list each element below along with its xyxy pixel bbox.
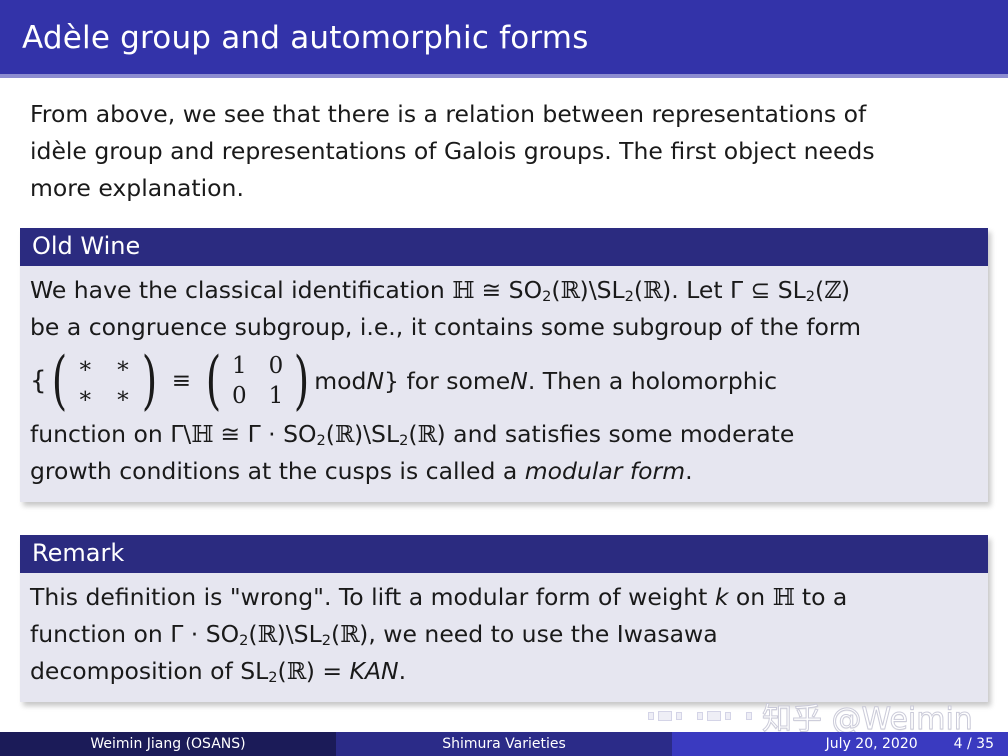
rm-l2-a: function on Γ · SO bbox=[30, 620, 239, 648]
rm-l1-c: to a bbox=[794, 583, 847, 611]
rm-l2-R2: ℝ bbox=[340, 620, 359, 648]
remark-line-1: This definition is "wrong". To lift a mo… bbox=[30, 579, 978, 616]
ow-l4-H: ℍ bbox=[191, 420, 213, 448]
nav-slide-dot-icon[interactable] bbox=[648, 712, 654, 720]
ow-matrix-tail-N: N bbox=[366, 363, 384, 400]
nav-spacer bbox=[735, 716, 742, 717]
ow-l4-c: ( bbox=[326, 420, 335, 448]
ow-matrix-tail-N2: N bbox=[510, 363, 528, 400]
nav-spacer bbox=[686, 716, 693, 717]
block-remark-title: Remark bbox=[20, 535, 988, 573]
ow-l5-a: growth conditions at the cusps is called… bbox=[30, 457, 525, 485]
remark-line-2: function on Γ · SO2(ℝ)\SL2(ℝ), we need t… bbox=[30, 616, 978, 653]
ow-l4-R1: ℝ bbox=[335, 420, 354, 448]
old-wine-line-5: growth conditions at the cusps is called… bbox=[30, 453, 978, 490]
intro-line-1: From above, we see that there is a relat… bbox=[30, 96, 960, 133]
footer-right: July 20, 2020 4 / 35 bbox=[672, 732, 1008, 756]
intro-paragraph: From above, we see that there is a relat… bbox=[30, 96, 960, 207]
ow-l4-sub1: 2 bbox=[316, 432, 325, 449]
ow-mr-01: 0 bbox=[269, 351, 284, 381]
ow-matrix-relation: ≡ bbox=[162, 363, 201, 400]
nav-section-box-icon[interactable] bbox=[658, 711, 672, 721]
ow-l1-e: ( bbox=[634, 276, 643, 304]
rm-l2-e: ), we need to use the Iwasawa bbox=[359, 620, 717, 648]
ow-matrix-left: ∗ ∗ ∗ ∗ bbox=[72, 351, 137, 411]
block-old-wine: Old Wine We have the classical identific… bbox=[20, 228, 988, 502]
rm-l1-b: on bbox=[728, 583, 772, 611]
ow-l1-sub2: 2 bbox=[625, 288, 634, 305]
ow-l1-a: We have the classical identification bbox=[30, 276, 452, 304]
ow-l1-R2: ℝ bbox=[643, 276, 662, 304]
ow-l1-Z: ℤ bbox=[824, 276, 841, 304]
rm-l2-d: ( bbox=[331, 620, 340, 648]
nav-slide-dot-icon[interactable] bbox=[697, 712, 703, 720]
remark-line-3: decomposition of SL2(ℝ) = KAN. bbox=[30, 653, 978, 690]
rm-l2-b: ( bbox=[248, 620, 257, 648]
nav-slide-dot-icon[interactable] bbox=[746, 712, 752, 720]
rm-l2-R1: ℝ bbox=[258, 620, 277, 648]
block-old-wine-title: Old Wine bbox=[20, 228, 988, 266]
block-remark-body: This definition is "wrong". To lift a mo… bbox=[20, 573, 988, 702]
page-title: Adèle group and automorphic forms bbox=[22, 20, 589, 56]
old-wine-line-1: We have the classical identification ℍ ≅… bbox=[30, 272, 978, 309]
ow-l5-em: modular form bbox=[525, 457, 685, 485]
ow-l1-sub3: 2 bbox=[806, 288, 815, 305]
rm-l3-b: ( bbox=[278, 657, 287, 685]
intro-line-2: idèle group and representations of Galoi… bbox=[30, 133, 960, 170]
footer-page-number: 4 / 35 bbox=[954, 736, 994, 752]
ow-matrix-tail-c: . Then a holomorphic bbox=[528, 363, 777, 400]
ow-l1-f: ). Let Γ ⊆ SL bbox=[662, 276, 806, 304]
ow-l5-b: . bbox=[685, 457, 692, 485]
rm-l3-a: decomposition of SL bbox=[30, 657, 268, 685]
ow-l4-e: ( bbox=[408, 420, 417, 448]
nav-section-box-icon[interactable] bbox=[707, 711, 721, 721]
ow-ml-11: ∗ bbox=[115, 381, 131, 411]
ow-matrix-tail-a: mod bbox=[314, 363, 366, 400]
rm-l1-a: This definition is "wrong". To lift a mo… bbox=[30, 583, 715, 611]
footer-subject: Shimura Varieties bbox=[336, 732, 672, 756]
rm-l3-c: ) = bbox=[306, 657, 350, 685]
ow-l1-g: ( bbox=[815, 276, 824, 304]
rm-l1-k: k bbox=[715, 583, 729, 611]
slide-footer: Weimin Jiang (OSANS) Shimura Varieties J… bbox=[0, 732, 1008, 756]
rm-l3-sub1: 2 bbox=[268, 669, 277, 686]
nav-slide-dot-icon[interactable] bbox=[725, 712, 731, 720]
rm-l3-R1: ℝ bbox=[287, 657, 306, 685]
ow-l4-sub2: 2 bbox=[399, 432, 408, 449]
ow-ml-01: ∗ bbox=[115, 351, 131, 381]
ow-l1-R1: ℝ bbox=[561, 276, 580, 304]
rm-l2-sub2: 2 bbox=[322, 632, 331, 649]
ow-ml-10: ∗ bbox=[78, 381, 94, 411]
old-wine-line-4: function on Γ\ℍ ≅ Γ · SO2(ℝ)\SL2(ℝ) and … bbox=[30, 416, 978, 453]
ow-l1-sub1: 2 bbox=[542, 288, 551, 305]
ow-l4-b: ≅ Γ · SO bbox=[213, 420, 317, 448]
ow-matrix-tail-b: } for some bbox=[384, 363, 510, 400]
ow-mr-11: 1 bbox=[269, 381, 284, 411]
block-remark: Remark This definition is "wrong". To li… bbox=[20, 535, 988, 702]
ow-mr-10: 0 bbox=[232, 381, 247, 411]
ow-l1-d: )\SL bbox=[580, 276, 625, 304]
rm-l1-H: ℍ bbox=[773, 583, 795, 611]
beamer-navigation-bar[interactable] bbox=[648, 708, 838, 724]
rm-l3-KAN: KAN bbox=[350, 657, 399, 685]
slide-title-underline bbox=[0, 74, 1008, 78]
rm-l3-d: . bbox=[399, 657, 406, 685]
ow-l4-d: )\SL bbox=[354, 420, 399, 448]
block-old-wine-body: We have the classical identification ℍ ≅… bbox=[20, 266, 988, 502]
ow-l1-h: ) bbox=[841, 276, 850, 304]
footer-date: July 20, 2020 bbox=[826, 736, 918, 752]
ow-matrix-open-brace: { bbox=[30, 363, 47, 400]
ow-ml-00: ∗ bbox=[78, 351, 94, 381]
ow-l4-R2: ℝ bbox=[418, 420, 437, 448]
intro-line-3: more explanation. bbox=[30, 170, 960, 207]
footer-author: Weimin Jiang (OSANS) bbox=[0, 732, 336, 756]
rm-l2-sub1: 2 bbox=[239, 632, 248, 649]
ow-l1-c: ( bbox=[551, 276, 560, 304]
ow-matrix-right: 1 0 0 1 bbox=[226, 351, 289, 411]
ow-l1-b: ≅ SO bbox=[474, 276, 542, 304]
ow-l4-a: function on Γ\ bbox=[30, 420, 191, 448]
nav-slide-dot-icon[interactable] bbox=[676, 712, 682, 720]
ow-mr-00: 1 bbox=[232, 351, 247, 381]
rm-l2-c: )\SL bbox=[277, 620, 322, 648]
ow-l1-H: ℍ bbox=[452, 276, 474, 304]
old-wine-matrix-line: { ( ∗ ∗ ∗ ∗ ) ≡ ( 1 0 0 1 ) mod N } for … bbox=[30, 346, 978, 416]
old-wine-line-2: be a congruence subgroup, i.e., it conta… bbox=[30, 309, 978, 346]
ow-l4-f: ) and satisfies some moderate bbox=[437, 420, 795, 448]
